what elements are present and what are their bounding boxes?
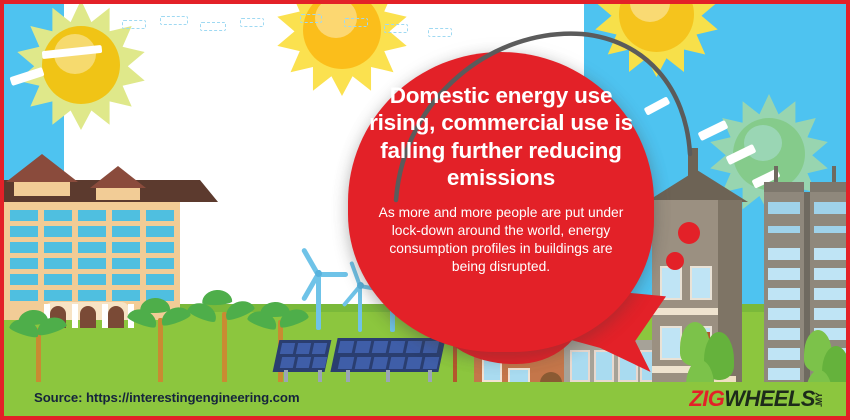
hotel-window xyxy=(146,210,174,221)
hotel-window xyxy=(112,226,140,237)
solar-cell xyxy=(312,343,327,354)
hotel-roof-peak xyxy=(90,166,146,188)
hotel-roof-peak xyxy=(6,154,78,182)
townhouse-window xyxy=(690,266,712,300)
solar-cell xyxy=(296,343,311,354)
speech-bubble-dot xyxy=(678,222,700,244)
tower-window xyxy=(814,308,846,320)
palm-tree xyxy=(12,310,64,386)
hotel-window xyxy=(78,290,106,301)
hotel-window xyxy=(44,226,72,237)
hotel-dormer xyxy=(96,188,140,200)
hotel-window xyxy=(112,210,140,221)
solar-cell xyxy=(280,343,295,354)
hotel-window xyxy=(44,290,72,301)
tower-window xyxy=(768,328,800,340)
townhouse-chimney xyxy=(688,148,698,176)
hotel-window xyxy=(44,258,72,269)
turbine-hub xyxy=(357,282,364,289)
solar-cell xyxy=(372,357,389,369)
solar-cell xyxy=(338,341,355,353)
hotel-window xyxy=(112,274,140,285)
hotel-window-grid xyxy=(8,208,178,308)
logo-my-suffix: .MY xyxy=(814,393,824,407)
hotel-column xyxy=(72,304,78,328)
palm-frond xyxy=(260,301,291,317)
hotel-arch-opening xyxy=(80,306,96,328)
speech-bubble-dot xyxy=(666,252,684,270)
palm-trunk xyxy=(158,318,163,388)
palm-frond xyxy=(140,297,171,313)
dashed-cloud-mark xyxy=(200,22,226,31)
tower-window xyxy=(768,368,800,380)
headline-text: Domestic energy use rising, commercial u… xyxy=(360,82,642,192)
solar-cell xyxy=(389,341,406,353)
tower-window xyxy=(768,268,800,280)
hotel-window xyxy=(78,258,106,269)
solar-cell xyxy=(389,357,406,369)
hotel-window xyxy=(10,258,38,269)
dashed-cloud-mark xyxy=(384,24,408,33)
gray-house-window xyxy=(570,350,590,382)
hotel-window xyxy=(10,210,38,221)
hotel-window xyxy=(10,290,38,301)
hotel-window xyxy=(44,274,72,285)
hotel-dormer xyxy=(14,182,70,196)
hotel-window xyxy=(112,242,140,253)
hotel-window xyxy=(10,242,38,253)
tower-antenna xyxy=(774,166,778,182)
solar-cell xyxy=(406,341,423,353)
tower-window-band xyxy=(814,202,846,214)
hotel-window xyxy=(10,226,38,237)
hotel-window xyxy=(78,274,106,285)
hotel-window xyxy=(78,226,106,237)
palm-frond xyxy=(202,289,233,306)
sun-highlight xyxy=(744,125,782,161)
tower-roof-cap xyxy=(810,182,850,192)
dashed-cloud-mark xyxy=(300,14,322,23)
hotel-window xyxy=(146,242,174,253)
hotel-window xyxy=(112,258,140,269)
townhouse-window xyxy=(660,266,682,300)
hotel-window xyxy=(78,210,106,221)
hotel-building xyxy=(4,152,200,320)
solar-cell xyxy=(372,341,389,353)
speech-bubble-text: Domestic energy use rising, commercial u… xyxy=(360,82,642,275)
solar-cell xyxy=(406,357,423,369)
tower-window-band xyxy=(768,226,800,233)
hotel-window xyxy=(10,274,38,285)
tower-window xyxy=(768,348,800,360)
zigwheels-logo[interactable]: ZIGWHEELS.MY xyxy=(689,386,828,412)
townhouse-window xyxy=(660,326,682,360)
logo-zig-text: ZIG xyxy=(689,386,724,411)
tower-roof-cap xyxy=(764,182,804,192)
palm-tree xyxy=(130,298,190,388)
solar-cell xyxy=(312,357,327,368)
solar-cell xyxy=(355,341,372,353)
footer-bar: Source: https://interestingengineering.c… xyxy=(4,382,850,416)
solar-panel-array xyxy=(334,338,446,386)
hotel-window xyxy=(44,210,72,221)
hotel-window xyxy=(78,242,106,253)
solar-cell xyxy=(355,357,372,369)
dashed-cloud-mark xyxy=(122,20,146,29)
palm-tree xyxy=(190,290,258,390)
hotel-window xyxy=(44,242,72,253)
solar-panel-array xyxy=(276,340,330,386)
tower-window xyxy=(814,288,846,300)
hotel-column xyxy=(102,304,108,328)
tower-window xyxy=(768,288,800,300)
hotel-window xyxy=(146,274,174,285)
hotel-window xyxy=(146,226,174,237)
tower-antenna xyxy=(832,166,836,182)
source-label: Source: https://interestingengineering.c… xyxy=(34,390,299,405)
solar-cell xyxy=(338,357,355,369)
townhouse-band xyxy=(652,308,718,315)
hotel-window xyxy=(146,258,174,269)
dashed-cloud-mark xyxy=(344,18,368,27)
logo-wheels-text: WHEELS xyxy=(724,386,815,411)
infographic-canvas: Domestic energy use rising, commercial u… xyxy=(0,0,850,420)
solar-cell xyxy=(296,357,311,368)
dashed-cloud-mark xyxy=(240,18,264,27)
tower-window xyxy=(768,248,800,260)
gray-house-window xyxy=(594,350,614,382)
subtext-paragraph: As more and more people are put under lo… xyxy=(360,204,642,276)
solar-cell xyxy=(280,357,295,368)
tower-window xyxy=(814,268,846,280)
solar-cell xyxy=(423,341,440,353)
tower-window xyxy=(814,248,846,260)
tower-window-band xyxy=(814,226,846,233)
sun-top-right-icon xyxy=(594,0,719,77)
dashed-cloud-mark xyxy=(160,16,188,25)
solar-cell xyxy=(423,357,440,369)
tower-window xyxy=(768,308,800,320)
dashed-cloud-mark xyxy=(428,28,452,37)
tower-window-band xyxy=(768,202,800,214)
hotel-arch-opening xyxy=(108,306,124,328)
palm-trunk xyxy=(222,312,227,392)
turbine-hub xyxy=(315,270,322,277)
